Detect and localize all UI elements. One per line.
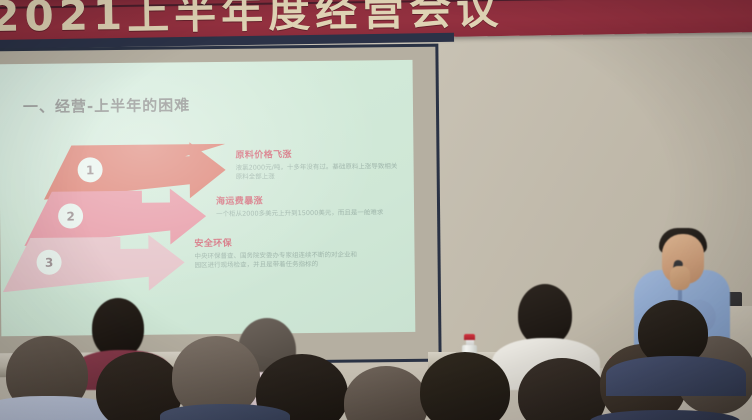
slide-item-2-text: 海运费暴涨 一个柜从2000多美元上升到15000美元，而且是一舱难求: [216, 192, 396, 218]
projection-screen-frame: 一、经营-上半年的困难 1 原料价格飞涨 液氯2000元/吨，十多年没有过。基础…: [0, 44, 442, 367]
slide-item-3-heading: 安全环保: [194, 234, 374, 249]
arrow-number-1: 1: [77, 157, 102, 182]
attendee-shoulders: [160, 404, 290, 420]
arrow-number-3: 3: [36, 250, 61, 275]
slide-item-2-body: 一个柜从2000多美元上升到15000美元，而且是一舱难求: [216, 208, 384, 218]
arrow-shape-3: [0, 234, 185, 292]
slide-item-3: 3 安全环保 中央环保督查、国务院安委办专家组连续不断的对企业和园区进行现场检查…: [0, 234, 185, 292]
slide-item-1-text: 原料价格飞涨 液氯2000元/吨，十多年没有过。基础原料上涨导致相关原料全部上涨: [235, 146, 415, 181]
slide-arrow-diagram: 1 原料价格飞涨 液氯2000元/吨，十多年没有过。基础原料上涨导致相关原料全部…: [0, 140, 415, 329]
conference-room-photo: 2021上半年度经营会议 一、经营-上半年的困难 1 原料价格飞涨: [0, 0, 752, 420]
slide-item-2-heading: 海运费暴涨: [216, 192, 396, 207]
slide-title: 一、经营-上半年的困难: [23, 94, 190, 117]
attendee-head: [92, 298, 144, 358]
slide-item-1-heading: 原料价格飞涨: [235, 146, 415, 161]
slide-item-3-text: 安全环保 中央环保督查、国务院安委办专家组连续不断的对企业和园区进行现场检查，并…: [194, 234, 374, 269]
projection-screen: 一、经营-上半年的困难 1 原料价格飞涨 液氯2000元/吨，十多年没有过。基础…: [0, 60, 415, 336]
slide-item-3-body: 中央环保督查、国务院安委办专家组连续不断的对企业和园区进行现场检查，并且是带着任…: [194, 250, 362, 269]
arrow-number-2: 2: [58, 203, 83, 228]
attendee-shoulders: [606, 356, 746, 396]
attendee-head: [518, 284, 572, 346]
speaker-hand: [670, 266, 690, 290]
slide-item-1-body: 液氯2000元/吨，十多年没有过。基础原料上涨导致相关原料全部上涨: [236, 162, 404, 181]
